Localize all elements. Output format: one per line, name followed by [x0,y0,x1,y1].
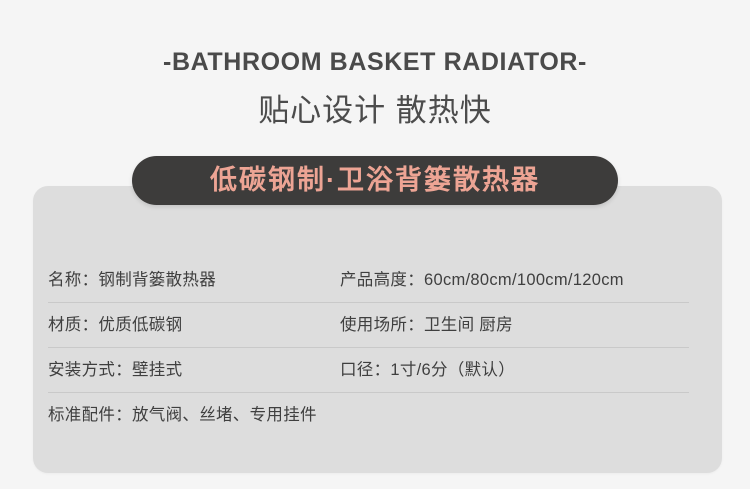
spec-name: 名称：钢制背篓散热器 [48,272,340,289]
spec-height: 产品高度：60cm/80cm/100cm/120cm [340,272,689,289]
table-row: 材质：优质低碳钢 使用场所：卫生间 厨房 [48,303,689,348]
spec-caliber: 口径：1寸/6分（默认） [340,362,689,379]
spec-installation-method: 安装方式：壁挂式 [48,362,340,379]
spec-material: 材质：优质低碳钢 [48,317,340,334]
page-header: -BATHROOM BASKET RADIATOR- 贴心设计 散热快 [0,0,750,126]
english-eyebrow-title: -BATHROOM BASKET RADIATOR- [0,50,750,75]
spec-usage-location: 使用场所：卫生间 厨房 [340,317,689,334]
specification-table: 名称：钢制背篓散热器 产品高度：60cm/80cm/100cm/120cm 材质… [48,258,689,437]
page-subtitle: 贴心设计 散热快 [0,95,750,126]
table-row: 名称：钢制背篓散热器 产品高度：60cm/80cm/100cm/120cm [48,258,689,303]
product-name-banner-label: 低碳钢制·卫浴背篓散热器 [210,167,540,194]
table-row: 安装方式：壁挂式 口径：1寸/6分（默认） [48,348,689,393]
product-name-banner: 低碳钢制·卫浴背篓散热器 [132,156,618,205]
spec-standard-accessories: 标准配件：放气阀、丝堵、专用挂件 [48,407,689,424]
product-info-page: -BATHROOM BASKET RADIATOR- 贴心设计 散热快 低碳钢制… [0,0,750,489]
table-row: 标准配件：放气阀、丝堵、专用挂件 [48,393,689,437]
